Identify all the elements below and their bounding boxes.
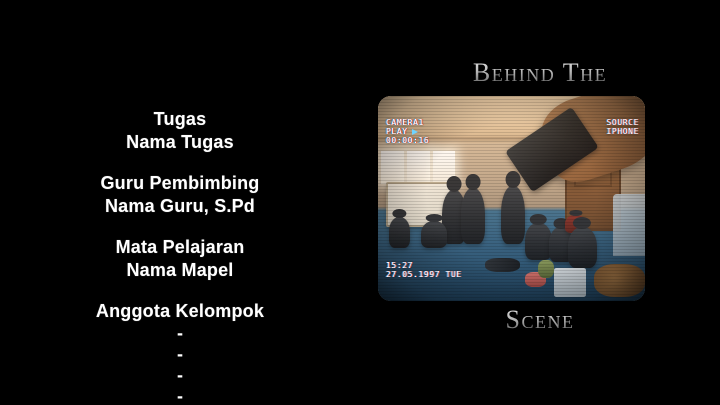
person-standing [501,186,525,243]
member-entry: - [0,386,360,405]
credit-heading-tugas: Tugas [0,108,360,131]
credit-heading-mapel: Mata Pelajaran [0,236,360,259]
person-seated [389,217,410,248]
member-entry: - [0,365,360,386]
title-line-bottom: Scene [360,305,720,335]
person-seated [568,227,597,268]
member-entry: - [0,344,360,365]
window-pane [407,151,430,184]
credit-heading-guru: Guru Pembimbing [0,172,360,195]
window-row [381,151,456,184]
person-seated [525,223,552,260]
title-line-top: Behind The [360,58,720,88]
floor-item-white-box [554,268,586,297]
window-pane [381,151,404,184]
standing-fan-object [613,194,645,256]
person-standing [461,188,485,243]
credit-value-tugas: Nama Tugas [0,131,360,154]
floor-item-bag [485,258,520,272]
title-and-video-panel: Behind The [360,0,720,405]
credit-value-mapel: Nama Mapel [0,259,360,282]
floor-item-green [538,260,554,278]
credit-heading-anggota: Anggota Kelompok [0,300,360,323]
slide-canvas: Tugas Nama Tugas Guru Pembimbing Nama Gu… [0,0,720,405]
credits-column: Tugas Nama Tugas Guru Pembimbing Nama Gu… [0,108,360,405]
credit-group-mapel: Mata Pelajaran Nama Mapel [0,236,360,282]
credit-value-guru: Nama Guru, S.Pd [0,195,360,218]
floor-item-brown-bundle [594,264,645,297]
credit-group-guru: Guru Pembimbing Nama Guru, S.Pd [0,172,360,218]
member-entry: - [0,323,360,344]
credit-group-tugas: Tugas Nama Tugas [0,108,360,154]
video-still-frame: CAMERA1 PLAY 00:00:16 SOURCE IPHONE 15:2… [378,96,645,301]
credit-group-anggota: Anggota Kelompok - - - - [0,300,360,405]
person-seated [421,221,448,248]
